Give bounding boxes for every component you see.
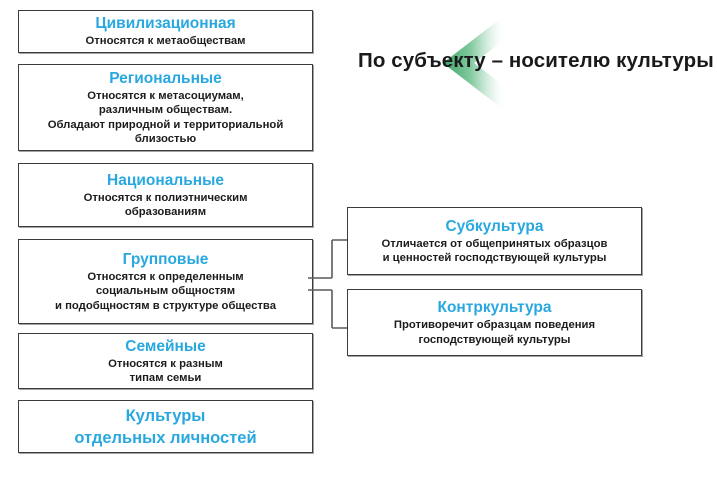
card-national[interactable]: Национальные Относятся к полиэтническим … xyxy=(18,163,313,227)
card-title: Контркультура xyxy=(437,298,551,317)
card-personal[interactable]: Культуры отдельных личностей xyxy=(18,400,313,453)
card-line: Относятся к полиэтническим xyxy=(84,191,248,205)
card-line: близостью xyxy=(48,132,284,146)
card-title-line: отдельных личностей xyxy=(74,427,256,449)
card-body: Относятся к разным типам семьи xyxy=(108,357,223,386)
card-title: Цивилизационная xyxy=(95,14,235,33)
card-line: социальным общностям xyxy=(55,284,276,298)
card-body: Относятся к метасоциумам, различным обще… xyxy=(48,89,284,146)
card-title: Семейные xyxy=(125,337,205,356)
card-body: Противоречит образцам поведения господст… xyxy=(394,318,595,347)
card-body: Относятся к полиэтническим образованиям xyxy=(84,191,248,220)
card-civilizational[interactable]: Цивилизационная Относятся к метаобщества… xyxy=(18,10,313,53)
card-title: Групповые xyxy=(123,250,209,269)
card-line: Обладают природной и территориальной xyxy=(48,118,284,132)
card-body: Отличается от общепринятых образцов и це… xyxy=(382,237,608,266)
card-line: типам семьи xyxy=(108,371,223,385)
card-line: образованиям xyxy=(84,205,248,219)
card-line: Относятся к разным xyxy=(108,357,223,371)
card-line: различным обществам. xyxy=(48,103,284,117)
card-counterculture[interactable]: Контркультура Противоречит образцам пове… xyxy=(347,289,642,356)
diagram-canvas: По субъекту – носителю культуры Цивилиза… xyxy=(0,0,717,480)
card-line: Относятся к определенным xyxy=(55,270,276,284)
card-line: и подобщностям в структуре общества xyxy=(55,299,276,313)
card-family[interactable]: Семейные Относятся к разным типам семьи xyxy=(18,333,313,389)
card-title: Национальные xyxy=(107,171,224,190)
card-body: Относятся к метаобществам xyxy=(85,34,245,48)
card-title: Региональные xyxy=(109,69,222,88)
card-title: Субкультура xyxy=(445,217,543,236)
page-title: По субъекту – носителю культуры xyxy=(358,48,716,74)
card-line: Противоречит образцам поведения xyxy=(394,318,595,332)
card-body: Относятся к определенным социальным общн… xyxy=(55,270,276,313)
card-title-line: Культуры xyxy=(74,405,256,427)
card-title: Культуры отдельных личностей xyxy=(74,405,256,449)
card-regional[interactable]: Региональные Относятся к метасоциумам, р… xyxy=(18,64,313,151)
card-line: господствующей культуры xyxy=(394,333,595,347)
card-group[interactable]: Групповые Относятся к определенным социа… xyxy=(18,239,313,324)
card-line: Относятся к метаобществам xyxy=(85,34,245,48)
card-subculture[interactable]: Субкультура Отличается от общепринятых о… xyxy=(347,207,642,275)
card-line: Отличается от общепринятых образцов xyxy=(382,237,608,251)
card-line: и ценностей господствующей культуры xyxy=(382,251,608,265)
card-line: Относятся к метасоциумам, xyxy=(48,89,284,103)
